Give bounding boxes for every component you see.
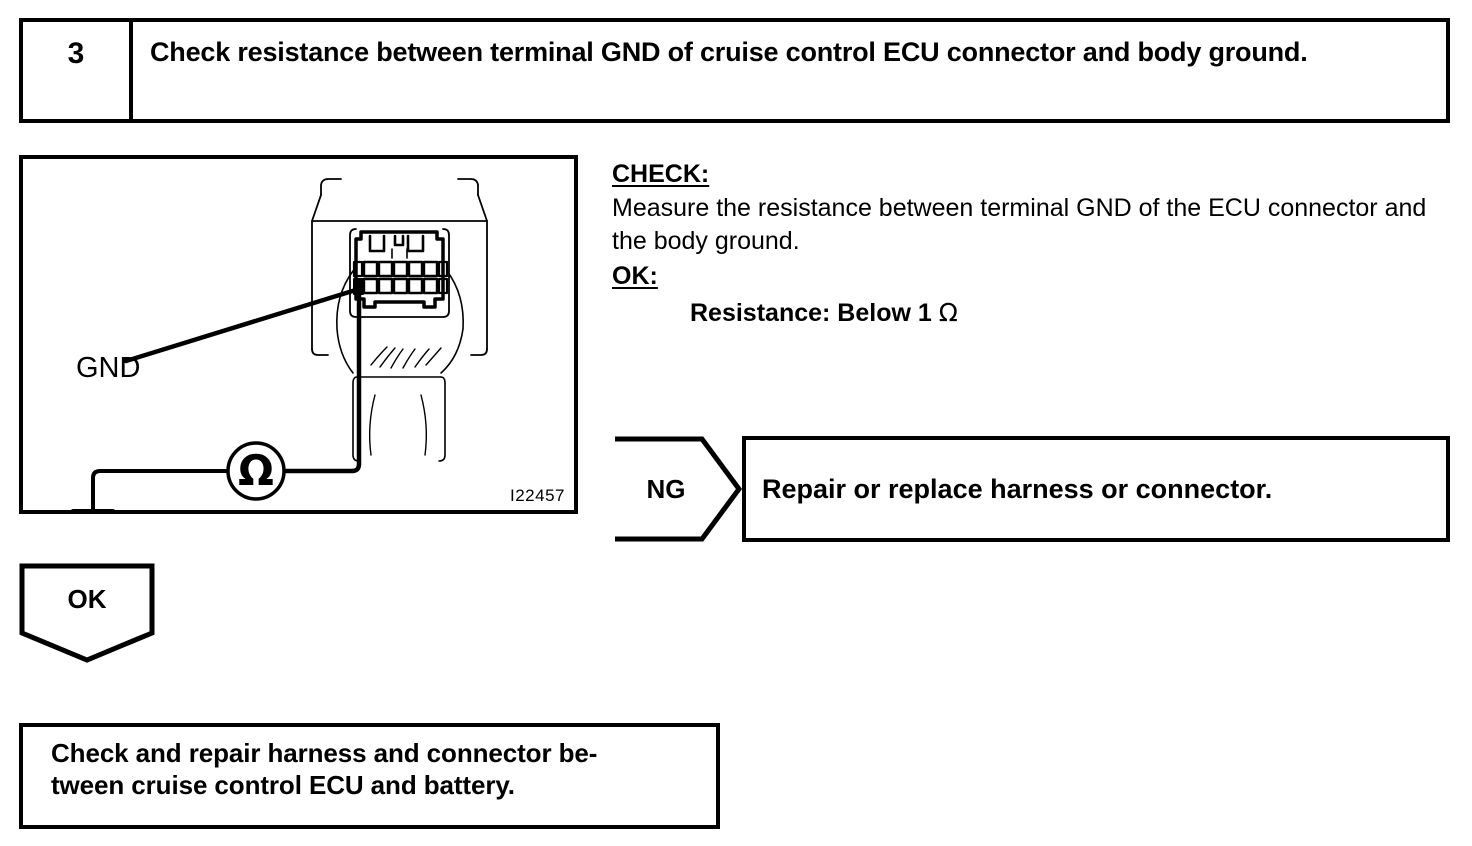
check-body-text: Measure the resistance between terminal … xyxy=(612,192,1457,257)
ng-branch: NG Repair or replace harness or connecto… xyxy=(612,436,1450,542)
ng-arrow-shape xyxy=(612,436,742,542)
step-title-cell: Check resistance between terminal GND of… xyxy=(133,22,1446,119)
result-box: Check and repair harness and connector b… xyxy=(19,723,720,829)
wiring-diagram-illustration: Ω GND xyxy=(23,159,574,510)
ng-action-box: Repair or replace harness or connector. xyxy=(742,436,1450,542)
ok-heading: OK: xyxy=(612,260,1462,293)
ok-specification: Resistance: Below 1 Ω xyxy=(690,297,1462,329)
step-number-cell: 3 xyxy=(23,22,133,119)
figure-id-label: I22457 xyxy=(510,486,565,506)
ok-arrow-shape xyxy=(19,563,155,663)
ohm-unit-symbol: Ω xyxy=(939,298,958,327)
ohm-meter-symbol: Ω xyxy=(238,446,274,495)
step-number: 3 xyxy=(68,39,85,69)
ok-specification-text: Resistance: Below 1 xyxy=(690,299,932,327)
step-title: Check resistance between terminal GND of… xyxy=(150,37,1308,67)
gnd-terminal-label: GND xyxy=(76,352,140,384)
figure-box: Ω GND I22457 xyxy=(19,155,578,514)
result-line-1: Check and repair harness and connector b… xyxy=(51,738,708,770)
ng-action-text: Repair or replace harness or connector. xyxy=(762,473,1272,505)
check-heading: CHECK: xyxy=(612,158,1462,190)
check-panel: CHECK: Measure the resistance between te… xyxy=(612,158,1462,329)
result-line-2: tween cruise control ECU and battery. xyxy=(51,770,708,802)
step-header-table: 3 Check resistance between terminal GND … xyxy=(19,18,1450,123)
